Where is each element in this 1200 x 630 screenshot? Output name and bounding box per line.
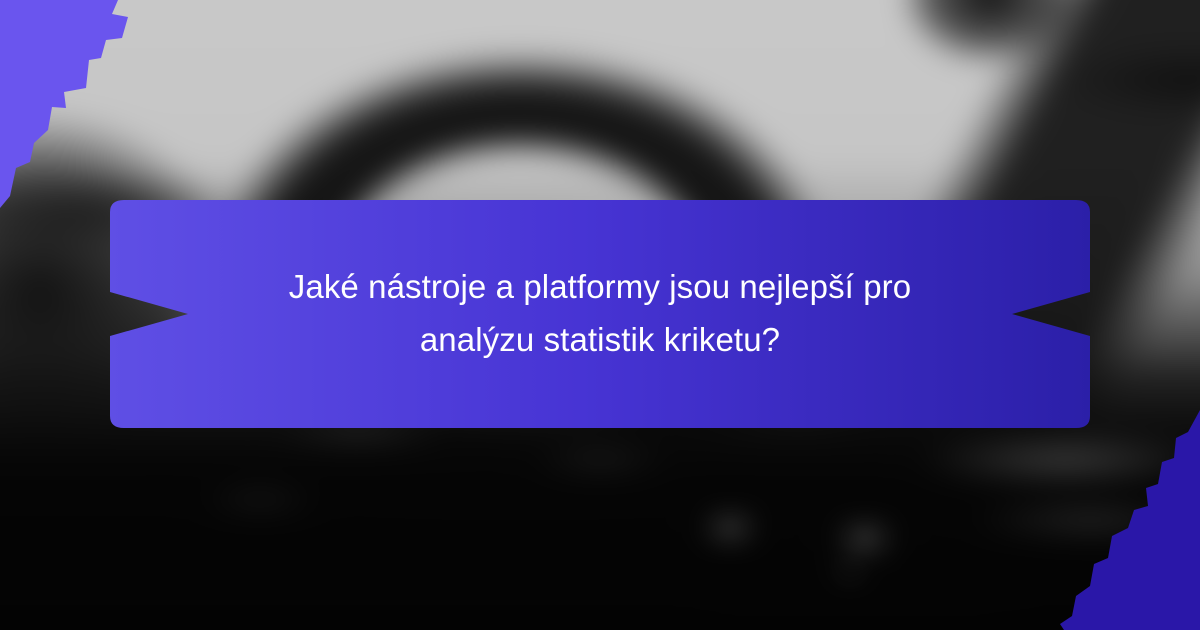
share-card: Jaké nástroje a platformy jsou nejlepší … xyxy=(0,0,1200,630)
question-line-2: analýzu statistik kriketu? xyxy=(420,321,780,360)
question-banner: Jaké nástroje a platformy jsou nejlepší … xyxy=(110,196,1090,432)
banner-text-block: Jaké nástroje a platformy jsou nejlepší … xyxy=(110,196,1090,432)
question-line-1: Jaké nástroje a platformy jsou nejlepší … xyxy=(289,268,911,307)
